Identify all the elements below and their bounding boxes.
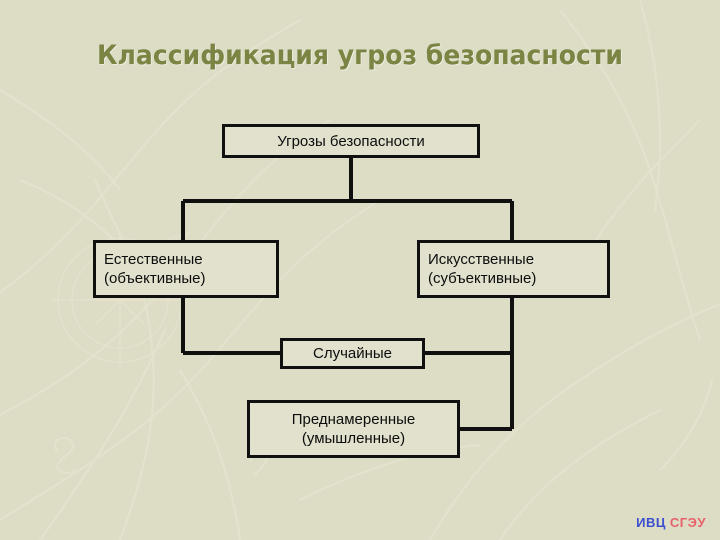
node-random-threats[interactable]: Случайные bbox=[280, 338, 425, 369]
node-natural-threats[interactable]: Естественные (объективные) bbox=[93, 240, 279, 298]
node-artificial-threats[interactable]: Искусственные (субъективные) bbox=[417, 240, 610, 298]
node-label-line: Случайные bbox=[313, 344, 392, 363]
slide-canvas: Классификация угроз безопасности Угрозы … bbox=[0, 0, 720, 540]
node-label-line: Естественные bbox=[104, 250, 203, 269]
node-label-line: Искусственные bbox=[428, 250, 534, 269]
logo-sgeu-text: СГЭУ bbox=[670, 515, 706, 530]
node-security-threats[interactable]: Угрозы безопасности bbox=[222, 124, 480, 158]
footer-logo: ИВЦСГЭУ bbox=[636, 515, 706, 530]
node-label-line: (объективные) bbox=[104, 269, 206, 288]
node-deliberate-threats[interactable]: Преднамеренные (умышленные) bbox=[247, 400, 460, 458]
node-label-line: (умышленные) bbox=[302, 429, 405, 448]
node-label-line: Преднамеренные bbox=[292, 410, 416, 429]
logo-ivc-text: ИВЦ bbox=[636, 515, 666, 530]
node-label-line: (субъективные) bbox=[428, 269, 536, 288]
node-label-line: Угрозы безопасности bbox=[277, 132, 425, 151]
